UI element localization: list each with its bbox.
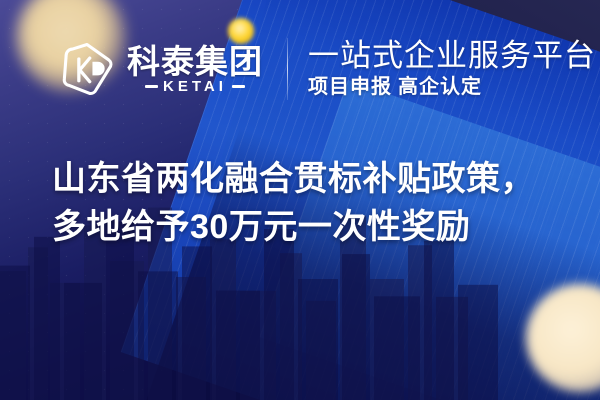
headline-block: 山东省两化融合贯标补贴政策， 多地给予30万元一次性奖励 — [52, 155, 572, 252]
brand-name-en: KETAI — [163, 79, 227, 94]
tagline-main: 一站式企业服务平台 — [308, 39, 596, 74]
headline-line-1: 山东省两化融合贯标补贴政策， — [52, 155, 572, 203]
tagline-block: 一站式企业服务平台 项目申报 高企认定 — [308, 39, 596, 99]
brand-name-cn: 科泰集团 — [127, 45, 263, 78]
banner-header: 科泰集团 KETAI 一站式企业服务平台 项目申报 高企认定 — [0, 0, 600, 138]
brand-name-en-row: KETAI — [127, 79, 263, 94]
brand-wordmark: 科泰集团 KETAI — [127, 45, 263, 94]
headline-line-2: 多地给予30万元一次性奖励 — [52, 203, 572, 251]
vertical-divider — [287, 38, 288, 100]
brand-logo[interactable]: 科泰集团 KETAI — [58, 40, 263, 98]
ketai-diamond-monogram-icon — [58, 40, 116, 98]
tagline-sub: 项目申报 高企认定 — [308, 76, 596, 99]
dash-right-icon — [232, 85, 245, 88]
dash-left-icon — [145, 85, 158, 88]
promo-banner: 科泰集团 KETAI 一站式企业服务平台 项目申报 高企认定 山东省两化融合贯标… — [0, 0, 600, 400]
